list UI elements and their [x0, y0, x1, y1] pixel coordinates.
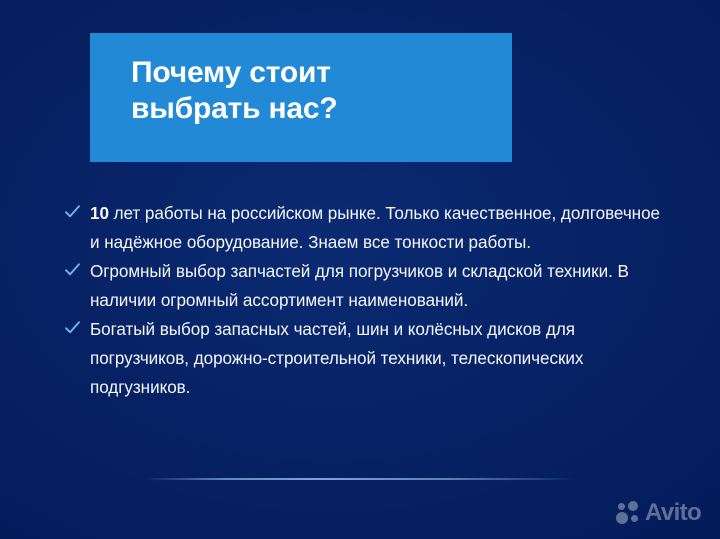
horizontal-divider	[148, 478, 572, 480]
list-item-text: Богатый выбор запасных частей, шин и кол…	[90, 315, 672, 402]
avito-wordmark: Avito	[645, 501, 701, 525]
check-icon	[64, 319, 81, 336]
list-item: Огромный выбор запчастей для погрузчиков…	[62, 257, 672, 315]
list-item: 10 лет работы на российском рынке. Тольк…	[62, 199, 672, 257]
avito-watermark: Avito	[616, 496, 712, 530]
list-item-body: Богатый выбор запасных частей, шин и кол…	[90, 320, 583, 397]
list-item-text: Огромный выбор запчастей для погрузчиков…	[90, 257, 672, 315]
list-item-body: Огромный выбор запчастей для погрузчиков…	[90, 262, 629, 310]
check-icon	[64, 261, 81, 278]
heading-banner: Почему стоит выбрать нас?	[90, 33, 512, 162]
list-item: Богатый выбор запасных частей, шин и кол…	[62, 315, 672, 402]
avito-logo-icon	[616, 501, 644, 525]
list-item-text: 10 лет работы на российском рынке. Тольк…	[90, 199, 672, 257]
slide-canvas: Почему стоит выбрать нас? 10 лет работы …	[0, 0, 720, 539]
page-title: Почему стоит выбрать нас?	[131, 55, 491, 127]
benefits-list: 10 лет работы на российском рынке. Тольк…	[62, 199, 672, 402]
check-icon	[64, 203, 81, 220]
list-item-lead: 10	[90, 204, 109, 223]
list-item-body: лет работы на российском рынке. Только к…	[90, 204, 660, 252]
